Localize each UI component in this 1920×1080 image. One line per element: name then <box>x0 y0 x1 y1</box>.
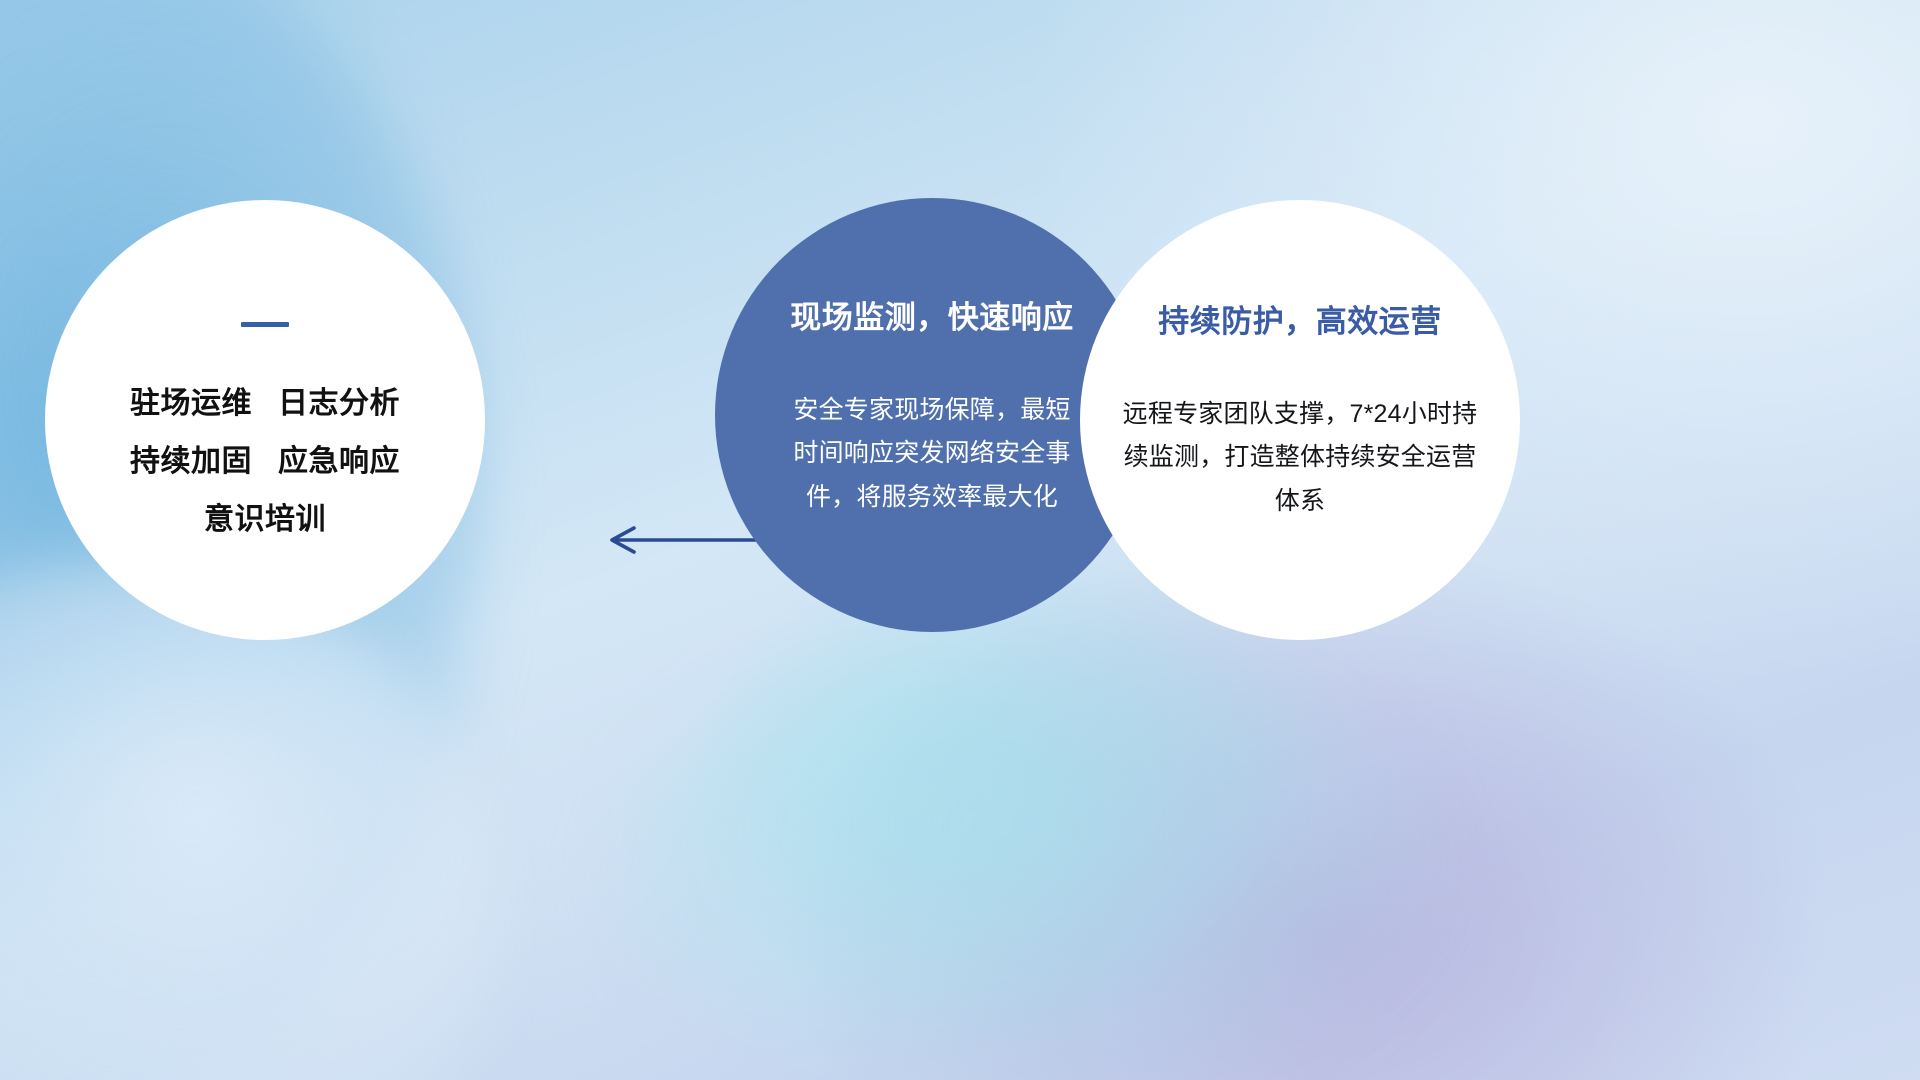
background-glow-cyan <box>620 640 1440 1080</box>
right-card-title: 持续防护，高效运营 <box>1158 296 1442 341</box>
list-item: 意识培训 <box>130 491 400 549</box>
accent-divider <box>241 322 289 327</box>
middle-card-title: 现场监测，快速响应 <box>790 292 1074 337</box>
middle-card-body: 安全专家现场保障，最短时间响应突发网络安全事件，将服务效率最大化 <box>792 389 1072 519</box>
list-item: 持续加固应急响应 <box>130 433 400 491</box>
keyword-label: 应急响应 <box>278 445 400 478</box>
keyword-label: 意识培训 <box>204 503 326 536</box>
list-item: 驻场运维日志分析 <box>130 375 400 433</box>
keyword-label: 持续加固 <box>130 445 252 478</box>
keyword-list: 驻场运维日志分析 持续加固应急响应 意识培训 <box>130 375 400 549</box>
left-card-content: 驻场运维日志分析 持续加固应急响应 意识培训 <box>45 200 485 640</box>
right-card-content: 持续防护，高效运营 远程专家团队支撑，7*24小时持续监测，打造整体持续安全运营… <box>1080 200 1520 640</box>
right-card-body: 远程专家团队支撑，7*24小时持续监测，打造整体持续安全运营体系 <box>1116 393 1484 523</box>
keyword-label: 驻场运维 <box>130 387 252 420</box>
keyword-label: 日志分析 <box>278 387 400 420</box>
